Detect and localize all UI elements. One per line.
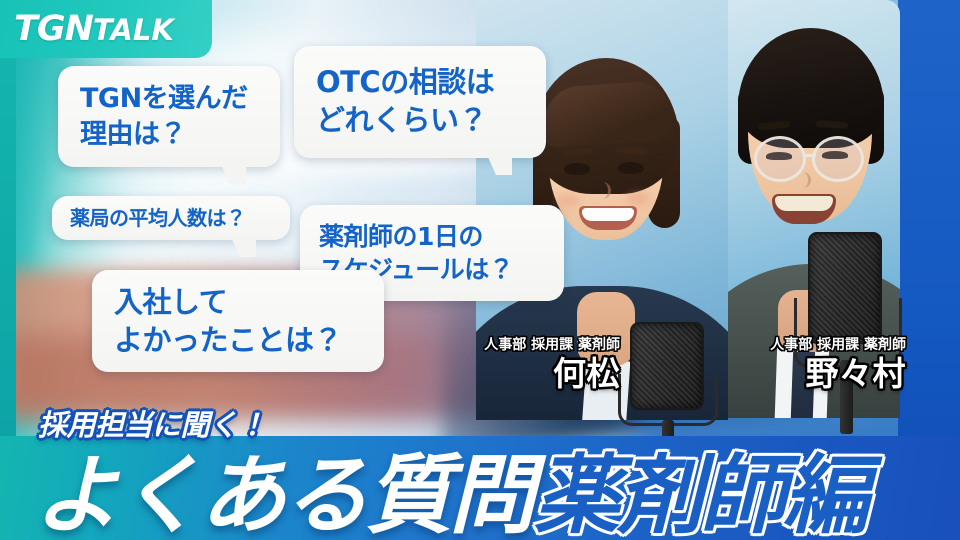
nameplate-hamatsu: 人事部 採用課 薬剤師 何松 (408, 338, 620, 390)
speaker-cheek-left (556, 194, 580, 207)
tgn-talk-logo: TGNTALK (0, 0, 212, 58)
speaker-cheek-right (626, 192, 650, 205)
speaker-eye-right (618, 162, 644, 174)
bubble-line: よかったことは？ (114, 321, 384, 359)
speaker-teeth (582, 208, 634, 221)
question-bubble-reason: TGNを選んだ 理由は？ (58, 66, 280, 167)
speaker-name: 何松 (408, 357, 620, 390)
bubble-line: 入社して (114, 283, 384, 321)
microphone-head (630, 322, 704, 410)
speaker-mouth (579, 206, 637, 230)
question-bubble-good-points: 入社して よかったことは？ (92, 270, 384, 372)
question-bubble-otc: OTCの相談は どれくらい？ (294, 46, 546, 158)
title-main: よくある質問 薬剤師編 (34, 454, 866, 538)
speaker-teeth (775, 196, 833, 211)
logo-suffix: TALK (93, 13, 174, 47)
logo-brand: TGN (14, 9, 93, 49)
glasses-lens-right-icon (812, 136, 864, 182)
bubble-line: 理由は？ (80, 117, 280, 152)
title-kicker: 採用担当に聞く！ (38, 402, 266, 444)
bubble-line: 薬局の平均人数は？ (70, 207, 290, 229)
microphone-head (808, 232, 882, 344)
question-bubble-staff-count: 薬局の平均人数は？ (52, 196, 290, 240)
speaker-bangs (542, 80, 674, 149)
glasses-bridge-icon (804, 154, 816, 157)
microphone-icon-right (790, 232, 906, 432)
bubble-line: TGNを選んだ (80, 81, 280, 116)
video-thumbnail: TGNTALK TGNを選んだ 理由は？ OTCの相談は どれくらい？ 薬局の平… (0, 0, 960, 540)
title-main-white: よくある質問 (34, 454, 532, 538)
nameplate-nonomura: 人事部 採用課 薬剤師 野々村 (706, 338, 906, 390)
logo-text: TGNTALK (14, 12, 174, 47)
speaker-role: 人事部 採用課 薬剤師 (706, 338, 906, 352)
speaker-eye-left (564, 163, 590, 175)
title-main-blue: 薬剤師編 (534, 454, 866, 538)
speaker-name: 野々村 (706, 357, 906, 390)
bubble-line: どれくらい？ (316, 102, 546, 140)
speaker-role: 人事部 採用課 薬剤師 (408, 338, 620, 352)
bubble-line: OTCの相談は (316, 64, 546, 102)
bubble-line: 薬剤師の1日の (319, 220, 564, 253)
